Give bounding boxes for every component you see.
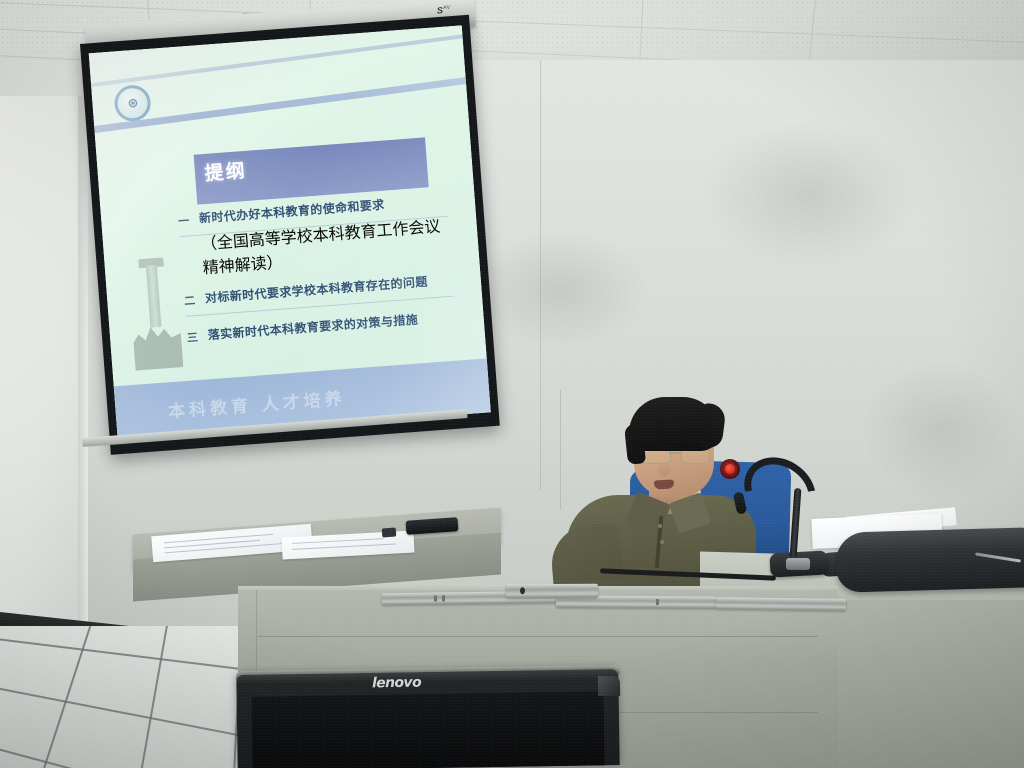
laptop-bag [835, 527, 1024, 593]
left-wall-column [0, 96, 86, 636]
projector-screen-frame: ⊛ 提纲 一 新时代办好本科教育的使命和要求 （全国高等学校本科教育工作会议精神… [80, 15, 500, 455]
monitor-bezel-corner [598, 676, 620, 696]
photo-scene: SAV ⊛ 提纲 一 新时代办好本科教育的使命和要求 [0, 0, 1024, 768]
microphone-base-plate [786, 558, 810, 570]
floor [0, 626, 262, 768]
eyeglass-bridge [669, 452, 682, 454]
drawer-rail[interactable] [716, 597, 846, 611]
shirt-button-icon [660, 540, 664, 544]
monument-graphic-icon [121, 253, 190, 377]
wall-corner-edge [78, 96, 88, 636]
list-item-number: 二 [184, 292, 198, 309]
person-nose [658, 460, 670, 476]
shirt-button-icon [658, 524, 662, 528]
projector-screen-surface: ⊛ 提纲 一 新时代办好本科教育的使命和要求 （全国高等学校本科教育工作会议精神… [89, 25, 491, 440]
presentation-slide: ⊛ 提纲 一 新时代办好本科教育的使命和要求 （全国高等学校本科教育工作会议精神… [89, 25, 491, 440]
slide-outline-list: 一 新时代办好本科教育的使命和要求 （全国高等学校本科教育工作会议精神解读） 二… [177, 190, 456, 353]
monitor-display-panel[interactable] [251, 691, 604, 768]
side-desk-front-panel [836, 600, 1024, 768]
lenovo-logo: lenovo [372, 675, 421, 692]
drawer-rail-center[interactable] [506, 584, 598, 599]
list-item-text: 对标新时代要求学校本科教育存在的问题 [205, 275, 429, 307]
slide-footer-text: 本科教育 人才培养 [167, 384, 346, 422]
red-indicator-light-icon [725, 464, 735, 474]
small-remote [382, 528, 397, 538]
list-item-number: 一 [178, 212, 192, 229]
slide-title: 提纲 [204, 156, 248, 186]
list-item-number: 三 [186, 329, 200, 346]
screen-brand-badge: SAV [437, 5, 452, 16]
